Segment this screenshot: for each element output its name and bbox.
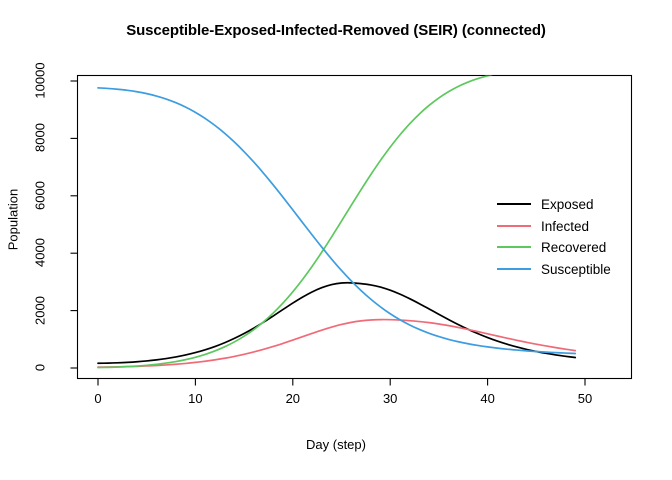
- x-tick-label: 10: [175, 391, 215, 406]
- y-axis-label: Population: [6, 160, 21, 280]
- x-tick-label: 0: [78, 391, 118, 406]
- legend-swatch: [497, 225, 531, 227]
- x-tick-label: 30: [370, 391, 410, 406]
- legend-label: Susceptible: [541, 262, 611, 277]
- y-tick-label: 0: [33, 340, 48, 396]
- y-tick-label: 6000: [33, 167, 48, 223]
- chart-container: Susceptible-Exposed-Infected-Removed (SE…: [0, 0, 672, 480]
- series-line-susceptible: [98, 88, 575, 354]
- x-axis-label: Day (step): [0, 437, 672, 452]
- series-line-exposed: [98, 283, 575, 363]
- legend-swatch: [497, 268, 531, 270]
- y-tick-label: 8000: [33, 110, 48, 166]
- y-tick-label: 4000: [33, 225, 48, 281]
- x-tick-label: 40: [468, 391, 508, 406]
- legend-swatch: [497, 246, 531, 248]
- x-tick-label: 20: [273, 391, 313, 406]
- legend-swatch: [497, 203, 531, 205]
- legend-label: Infected: [541, 219, 589, 234]
- chart-title: Susceptible-Exposed-Infected-Removed (SE…: [0, 22, 672, 39]
- y-tick-label: 10000: [33, 53, 48, 109]
- x-tick-label: 50: [565, 391, 605, 406]
- legend-label: Recovered: [541, 240, 606, 255]
- series-group: [98, 68, 575, 368]
- series-line-recovered: [98, 68, 575, 368]
- y-tick-label: 2000: [33, 282, 48, 338]
- legend-label: Exposed: [541, 197, 594, 212]
